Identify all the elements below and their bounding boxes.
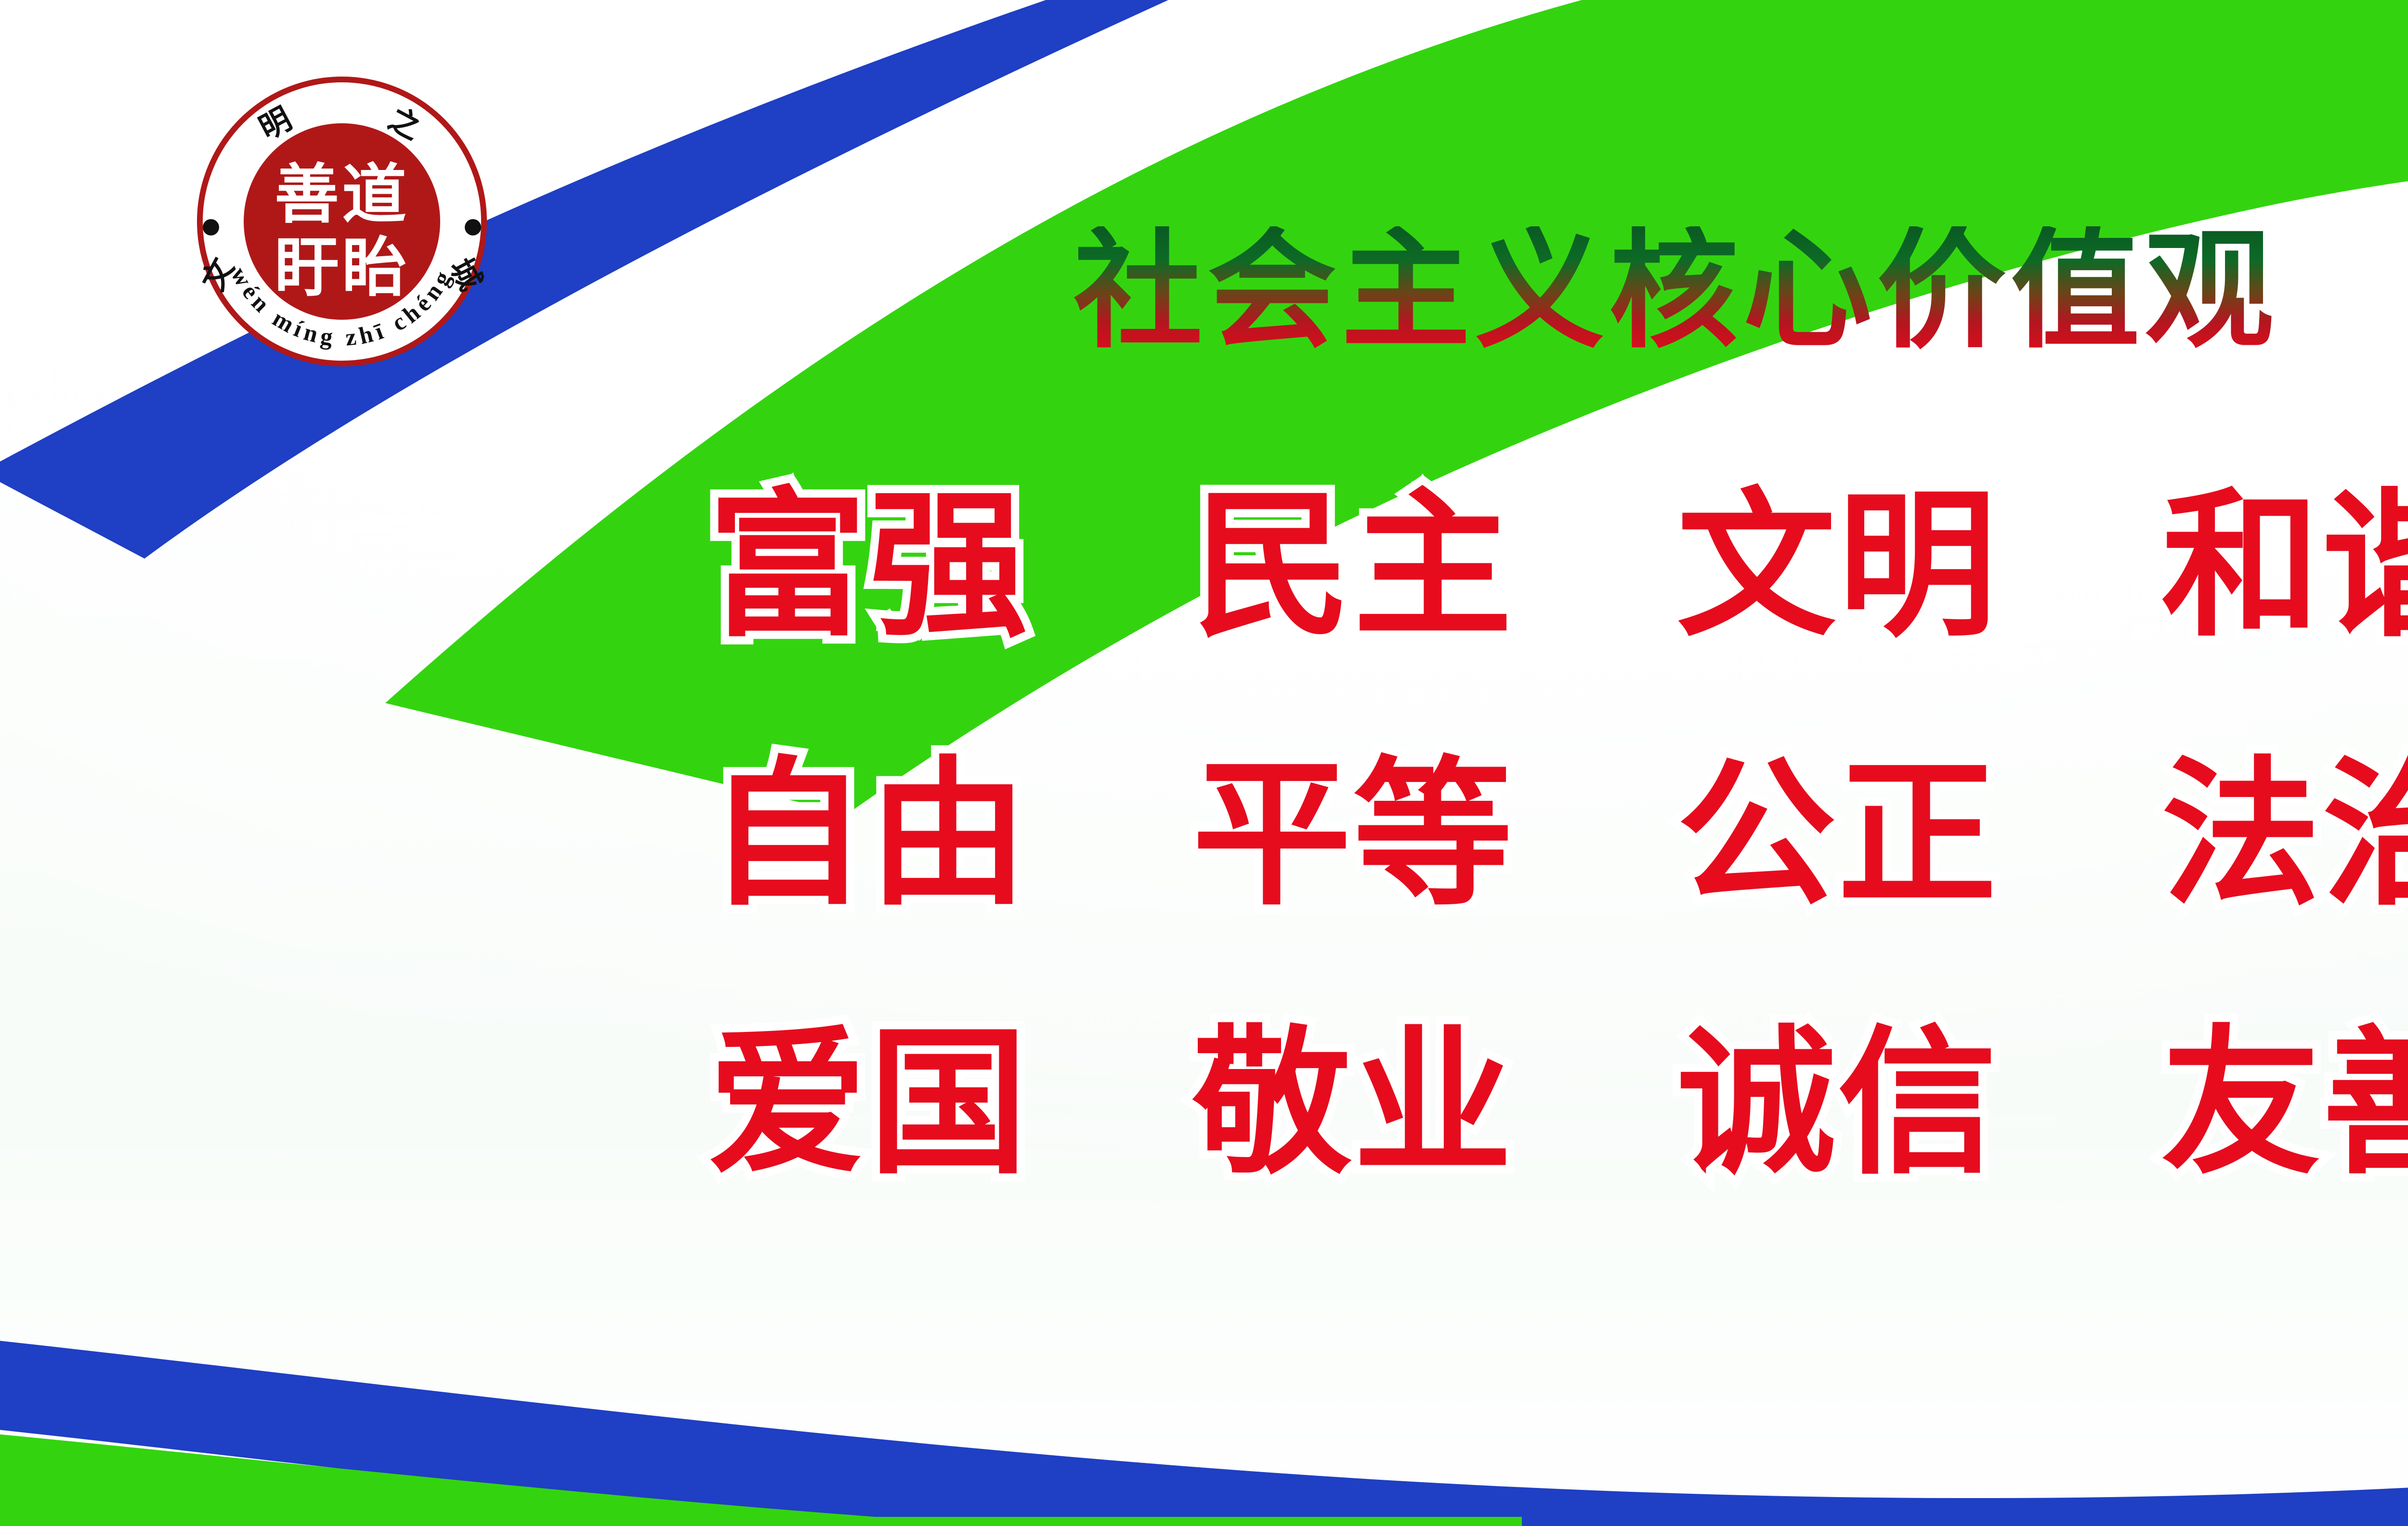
emblem-center-line-1: 善道 bbox=[275, 157, 409, 232]
civic-values-banner: 文 明 之 城 善道 盱眙 wén míng zhī chéng 社会主义核心价… bbox=[0, 0, 2408, 1526]
page-title: 社会主义核心价值观 bbox=[857, 226, 2408, 355]
value-line-3: 爱国 敬业 诚信 友善 爱国 敬业 诚信 友善 bbox=[708, 1024, 2408, 1183]
value-line-1: 富强 民主 文明 和谐 富强 民主 文明 和谐 bbox=[708, 486, 2408, 645]
city-emblem: 文 明 之 城 善道 盱眙 wén míng zhī chéng bbox=[193, 72, 491, 371]
value-line-3-text: 爱国 敬业 诚信 友善 bbox=[708, 1024, 2408, 1183]
value-line-2: 自由 平等 公正 法治 自由 平等 公正 法治 bbox=[708, 755, 2408, 914]
value-line-2-text: 自由 平等 公正 法治 bbox=[708, 755, 2408, 914]
emblem-dot-right bbox=[465, 219, 481, 235]
emblem-center-line-2: 盱眙 bbox=[275, 230, 409, 305]
emblem-dot-left bbox=[203, 219, 219, 235]
value-line-1-text: 富强 民主 文明 和谐 bbox=[708, 486, 2408, 645]
core-values-list: 富强 民主 文明 和谐 富强 民主 文明 和谐 自由 平等 公正 法治 自由 平… bbox=[708, 486, 2408, 1183]
